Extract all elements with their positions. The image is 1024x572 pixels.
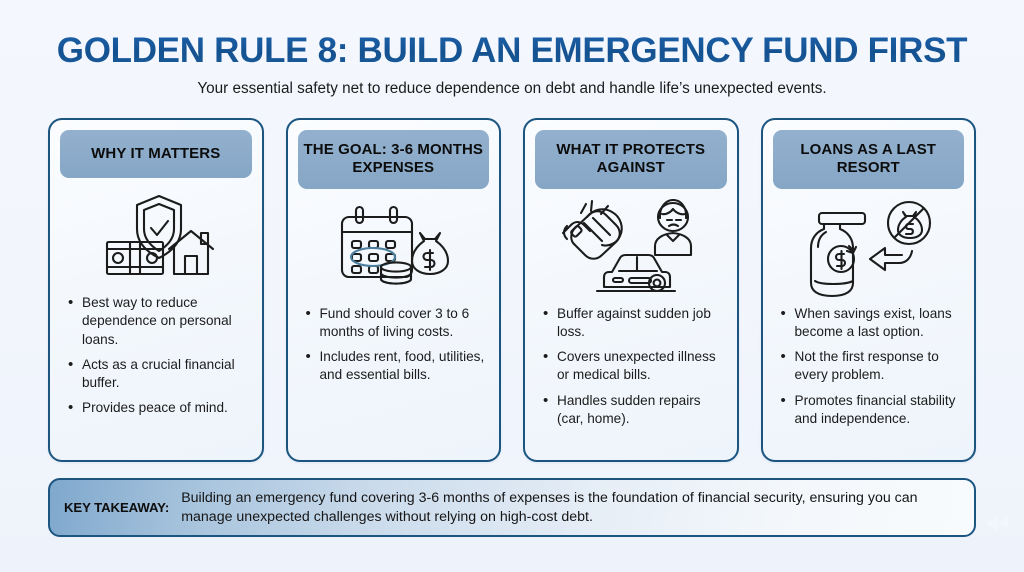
card-bullet-list: Fund should cover 3 to 6 months of livin… bbox=[298, 305, 490, 392]
savings-jar-no-loan-icon bbox=[773, 189, 965, 305]
list-item: Best way to reduce dependence on persona… bbox=[80, 294, 248, 349]
card-title-banner: WHAT IT PROTECTS AGAINST bbox=[535, 130, 727, 189]
header: GOLDEN RULE 8: BUILD AN EMERGENCY FUND F… bbox=[0, 0, 1024, 98]
list-item: Handles sudden repairs (car, home). bbox=[555, 392, 723, 428]
calendar-coins-moneybag-icon bbox=[298, 189, 490, 305]
cards-row: WHY IT MATTERS bbox=[0, 98, 1024, 462]
list-item: Not the first response to every problem. bbox=[793, 348, 961, 384]
watermark-icon bbox=[984, 512, 1010, 534]
list-item: Fund should cover 3 to 6 months of livin… bbox=[318, 305, 486, 341]
page-subtitle: Your essential safety net to reduce depe… bbox=[0, 80, 1024, 98]
card-the-goal: THE GOAL: 3-6 MONTHS EXPENSES bbox=[286, 118, 502, 462]
shield-check-money-house-icon bbox=[60, 178, 252, 294]
list-item: Buffer against sudden job loss. bbox=[555, 305, 723, 341]
list-item: Promotes financial stability and indepen… bbox=[793, 392, 961, 428]
list-item: Provides peace of mind. bbox=[80, 399, 248, 417]
list-item: Acts as a crucial financial buffer. bbox=[80, 356, 248, 392]
card-title-banner: THE GOAL: 3-6 MONTHS EXPENSES bbox=[298, 130, 490, 189]
list-item: Includes rent, food, utilities, and esse… bbox=[318, 348, 486, 384]
injury-sad-person-car-icon bbox=[535, 189, 727, 305]
card-loans-last-resort: LOANS AS A LAST RESORT bbox=[761, 118, 977, 462]
card-what-it-protects-against: WHAT IT PROTECTS AGAINST bbox=[523, 118, 739, 462]
key-takeaway-label: KEY TAKEAWAY: bbox=[64, 500, 181, 515]
card-why-it-matters: WHY IT MATTERS bbox=[48, 118, 264, 462]
card-bullet-list: Buffer against sudden job loss. Covers u… bbox=[535, 305, 727, 435]
list-item: Covers unexpected illness or medical bil… bbox=[555, 348, 723, 384]
infographic-page: GOLDEN RULE 8: BUILD AN EMERGENCY FUND F… bbox=[0, 0, 1024, 572]
list-item: When savings exist, loans become a last … bbox=[793, 305, 961, 341]
card-bullet-list: Best way to reduce dependence on persona… bbox=[60, 294, 252, 424]
card-bullet-list: When savings exist, loans become a last … bbox=[773, 305, 965, 435]
key-takeaway-text: Building an emergency fund covering 3-6 … bbox=[181, 489, 958, 526]
page-title: GOLDEN RULE 8: BUILD AN EMERGENCY FUND F… bbox=[0, 32, 1024, 70]
card-title-banner: WHY IT MATTERS bbox=[60, 130, 252, 178]
key-takeaway-bar: KEY TAKEAWAY: Building an emergency fund… bbox=[48, 478, 976, 537]
card-title-banner: LOANS AS A LAST RESORT bbox=[773, 130, 965, 189]
